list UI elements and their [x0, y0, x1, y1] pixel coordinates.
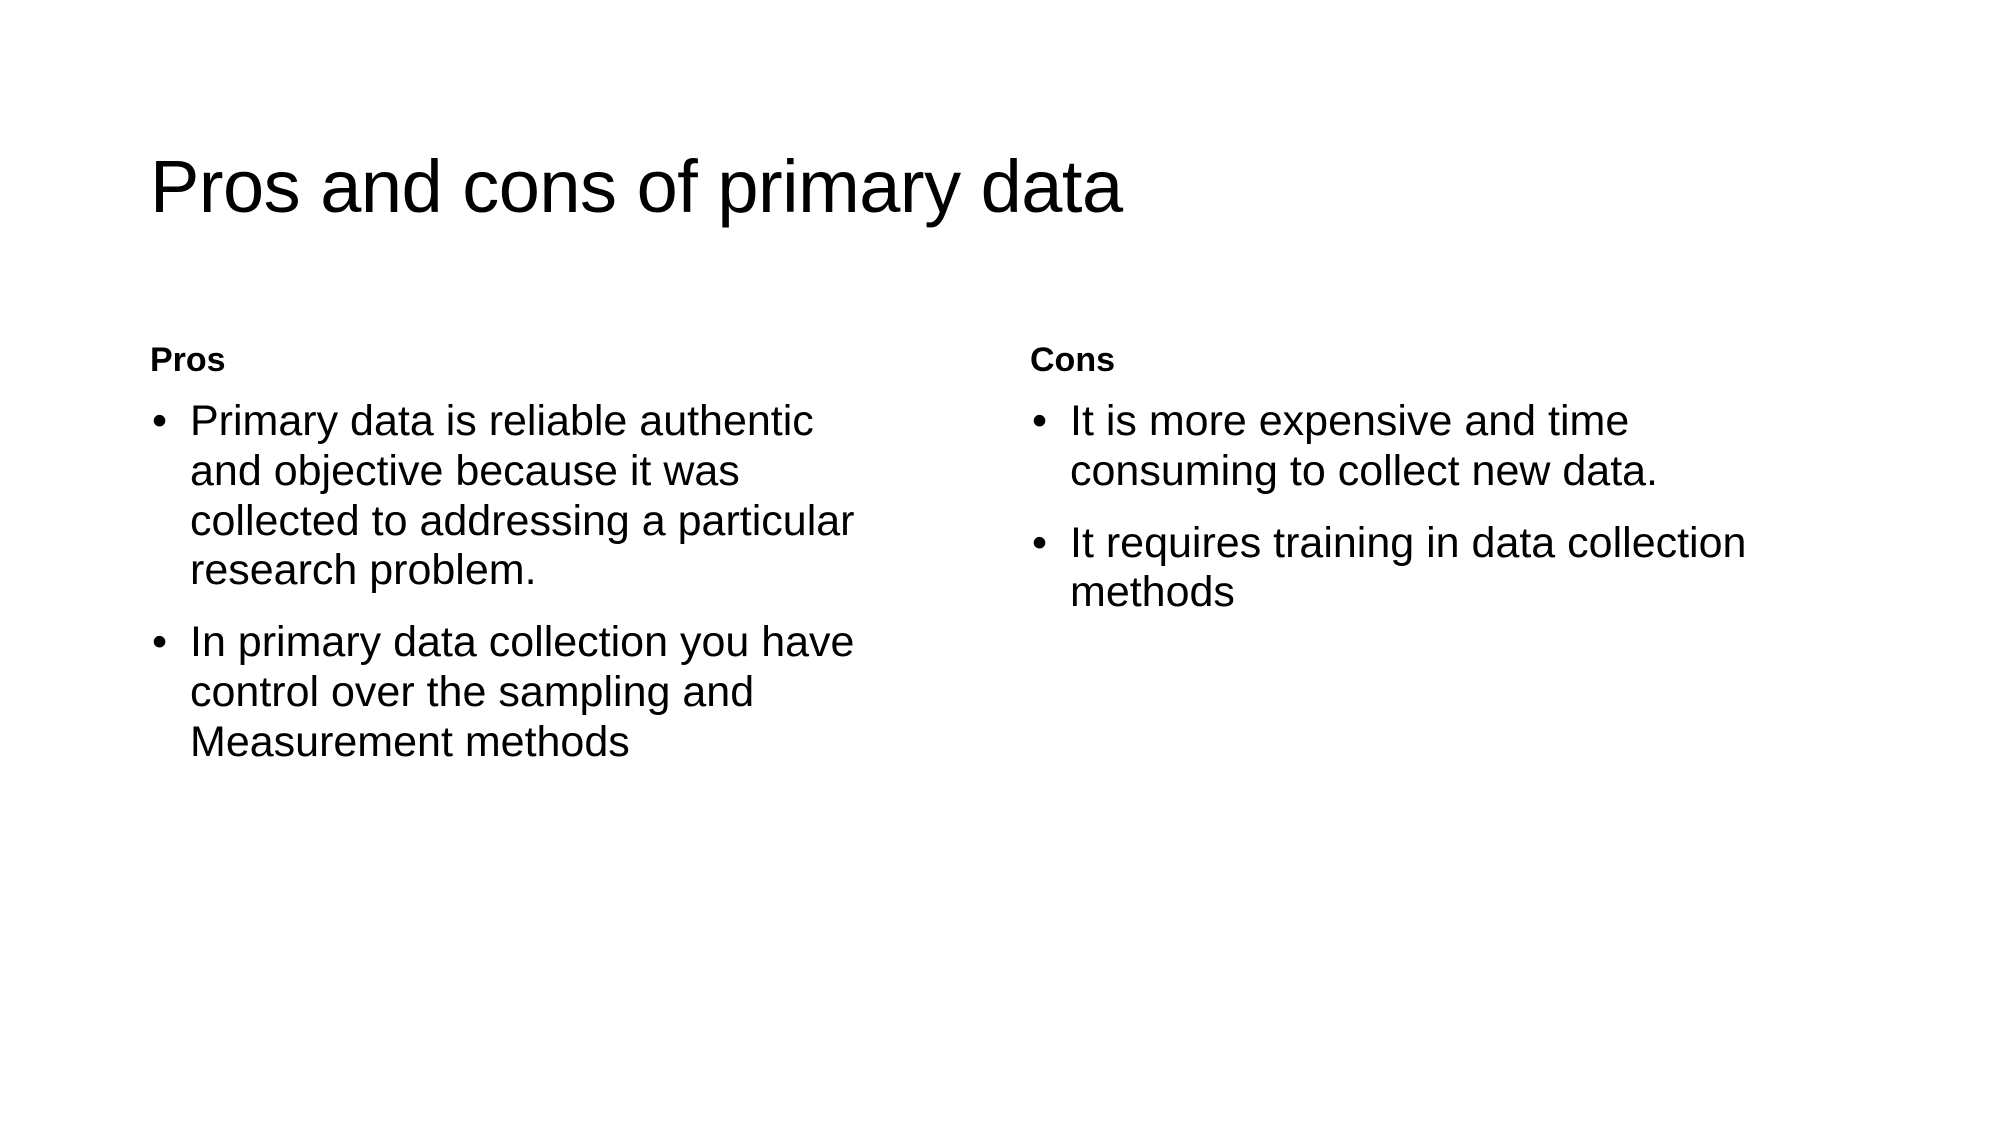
bullet-point-icon: •	[152, 618, 167, 668]
list-item-text: In primary data collection you have cont…	[190, 618, 890, 768]
column-heading-pros: Pros	[150, 340, 970, 381]
list-item: • It is more expensive and time consumin…	[1030, 397, 1750, 497]
slide-canvas: Pros and cons of primary data Pros • Pri…	[0, 0, 2000, 1125]
bullet-list-pros: • Primary data is reliable authentic and…	[150, 397, 970, 768]
column-heading-cons: Cons	[1030, 340, 1850, 381]
list-item: • Primary data is reliable authentic and…	[150, 397, 890, 597]
column-cons: Cons • It is more expensive and time con…	[1030, 340, 1850, 618]
bullet-point-icon: •	[1032, 397, 1047, 447]
slide-body: Pros • Primary data is reliable authenti…	[150, 340, 1870, 768]
list-item: • It requires training in data collectio…	[1030, 519, 1750, 619]
bullet-point-icon: •	[1032, 519, 1047, 569]
list-item-text: It requires training in data collection …	[1070, 519, 1750, 619]
list-item: • In primary data collection you have co…	[150, 618, 890, 768]
bullet-point-icon: •	[152, 397, 167, 447]
column-pros: Pros • Primary data is reliable authenti…	[150, 340, 970, 768]
bullet-list-cons: • It is more expensive and time consumin…	[1030, 397, 1850, 619]
page-title: Pros and cons of primary data	[150, 146, 1850, 227]
list-item-text: It is more expensive and time consuming …	[1070, 397, 1750, 497]
list-item-text: Primary data is reliable authentic and o…	[190, 397, 890, 597]
